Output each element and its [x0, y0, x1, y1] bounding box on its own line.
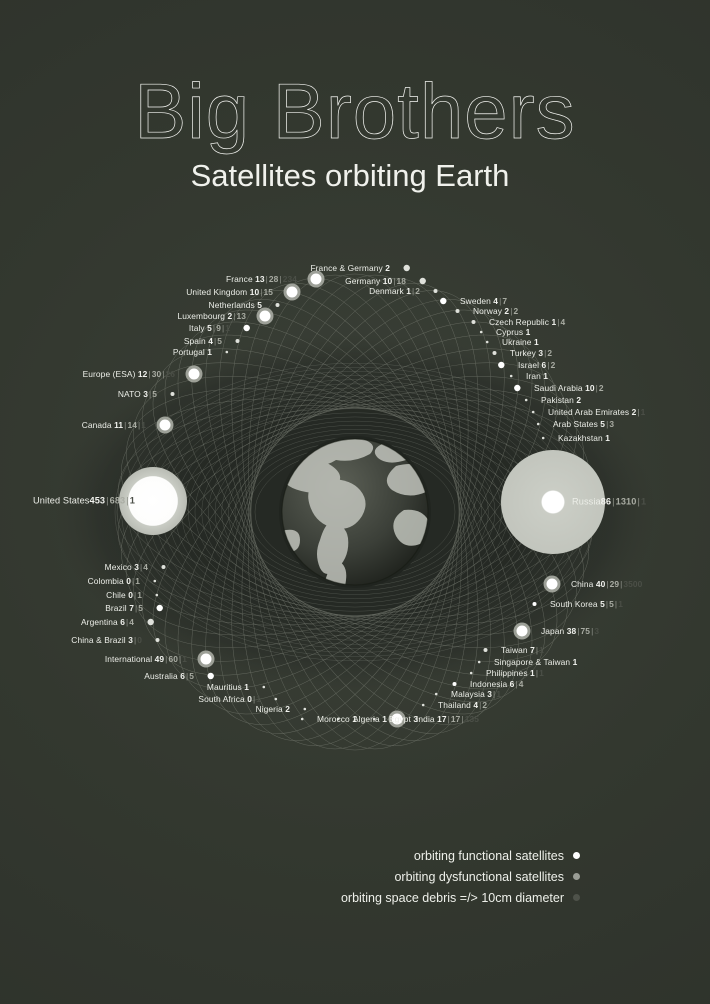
country-marker: [493, 351, 497, 355]
country-label-united-kingdom: United Kingdom 10|15: [186, 287, 273, 297]
country-marker: [547, 579, 558, 590]
country-marker: [208, 673, 214, 679]
country-label-arab-states: Arab States 5|3: [553, 419, 614, 429]
country-marker: [311, 274, 322, 285]
country-marker: [157, 605, 163, 611]
legend-label: orbiting space debris =/> 10cm diameter: [341, 891, 564, 905]
country-label-europe-esa: Europe (ESA) 12|30|26: [83, 369, 175, 379]
legend-dot-debris-icon: [573, 894, 580, 901]
country-label-australia: Australia 6|5: [144, 671, 194, 681]
country-label-south-africa: South Africa 0|1: [198, 694, 261, 704]
country-label-kazakhstan: Kazakhstan 1: [558, 433, 610, 443]
country-label-spain: Spain 4|5: [184, 336, 222, 346]
country-marker: [420, 278, 426, 284]
country-label-denmark: Denmark 1|2: [369, 286, 420, 296]
country-label-mauritius: Mauritius 1: [207, 682, 249, 692]
country-label-france-germany: France & Germany 2: [310, 263, 390, 273]
country-label-singapore-taiwan: Singapore & Taiwan 1: [494, 657, 577, 667]
country-marker: [148, 619, 154, 625]
country-label-international: International 49|60|1: [105, 654, 187, 664]
legend-dot-dysfunctional-icon: [573, 873, 580, 880]
country-marker: [510, 375, 513, 378]
country-marker: [304, 708, 307, 711]
country-label-egypt: Egypt 3: [389, 714, 418, 724]
country-marker: [171, 392, 175, 396]
country-label-saudi-arabia: Saudi Arabia 10|2: [534, 383, 604, 393]
country-label-malaysia: Malaysia 3|1: [451, 689, 501, 699]
country-label-united-arab-emirates: United Arab Emirates 2|1: [548, 407, 645, 417]
country-marker: [478, 661, 481, 664]
country-marker: [456, 309, 460, 313]
country-label-russia: Russia86|1310|1: [572, 497, 646, 508]
country-marker: [404, 265, 410, 271]
country-label-italy: Italy 5|9|1: [189, 323, 230, 333]
country-label-nigeria: Nigeria 2: [256, 704, 290, 714]
country-marker: [480, 331, 483, 334]
page-subtitle: Satellites orbiting Earth: [0, 156, 710, 196]
country-label-china: China 40|29|3500: [571, 579, 642, 589]
country-label-taiwan: Taiwan 7|1: [501, 645, 544, 655]
country-label-israel: Israel 6|2: [518, 360, 555, 370]
country-marker: [301, 718, 304, 721]
country-marker: [498, 362, 504, 368]
country-label-sweden: Sweden 4|7: [460, 296, 507, 306]
country-label-ukraine: Ukraine 1: [502, 337, 539, 347]
country-label-luxembourg: Luxembourg 2|13: [177, 311, 246, 321]
country-label-netherlands: Netherlands 5: [209, 300, 262, 310]
country-marker: [275, 698, 278, 701]
country-marker: [435, 693, 438, 696]
country-label-pakistan: Pakistan 2: [541, 395, 581, 405]
country-marker: [263, 686, 266, 689]
country-marker: [244, 325, 250, 331]
country-label-philippines: Philippines 1|1: [486, 668, 544, 678]
orbit-diagram: France 13|28|234France & Germany 2German…: [0, 230, 710, 760]
country-marker: [514, 385, 520, 391]
country-marker: [486, 341, 489, 344]
country-label-portugal: Portugal 1: [173, 347, 212, 357]
country-label-thailand: Thailand 4|2: [438, 700, 487, 710]
country-marker: [533, 602, 537, 606]
page-title: Big Brothers: [0, 72, 710, 150]
country-marker: [260, 311, 271, 322]
country-marker: [525, 399, 528, 402]
country-label-norway: Norway 2|2: [473, 306, 518, 316]
legend-item: orbiting functional satellites: [0, 845, 710, 866]
legend-label: orbiting functional satellites: [414, 849, 564, 863]
country-label-japan: Japan 38|75|3: [541, 626, 599, 636]
country-marker: [484, 648, 488, 652]
legend-label: orbiting dysfunctional satellites: [394, 870, 564, 884]
country-label-colombia: Colombia 0|1: [88, 576, 140, 586]
country-marker: [276, 303, 280, 307]
country-marker: [532, 411, 535, 414]
country-label-iran: Iran 1: [526, 371, 548, 381]
country-label-indonesia: Indonesia 6|4: [470, 679, 523, 689]
country-label-mexico: Mexico 3|4: [105, 562, 148, 572]
country-marker: [162, 565, 166, 569]
country-label-cyprus: Cyprus 1: [496, 327, 530, 337]
country-marker: [422, 704, 425, 707]
country-label-argentina: Argentina 6|4: [81, 617, 134, 627]
country-marker: [236, 339, 240, 343]
country-label-morocco: Morocco 1: [317, 714, 357, 724]
country-marker: [189, 369, 200, 380]
legend: orbiting functional satellites orbiting …: [0, 845, 710, 908]
legend-item: orbiting space debris =/> 10cm diameter: [0, 887, 710, 908]
country-marker: [156, 638, 160, 642]
country-marker: [156, 594, 159, 597]
legend-item: orbiting dysfunctional satellites: [0, 866, 710, 887]
country-marker: [470, 672, 473, 675]
country-marker: [472, 320, 476, 324]
country-marker: [226, 351, 229, 354]
country-label-brazil: Brazil 7|5: [105, 603, 143, 613]
country-marker: [542, 437, 545, 440]
country-label-china-brazil: China & Brazil 3|0: [71, 635, 142, 645]
country-marker: [154, 580, 157, 583]
country-marker: [453, 682, 457, 686]
country-marker: [434, 289, 438, 293]
country-label-france: France 13|28|234: [226, 274, 297, 284]
country-marker: [440, 298, 446, 304]
country-label-canada: Canada 11|14|1: [82, 420, 146, 430]
legend-dot-functional-icon: [573, 852, 580, 859]
title-block: Big Brothers Satellites orbiting Earth: [0, 72, 710, 196]
country-marker: [201, 654, 212, 665]
country-label-turkey: Turkey 3|2: [510, 348, 552, 358]
country-marker: [517, 626, 528, 637]
country-label-germany: Germany 10|18: [345, 276, 406, 286]
country-label-chile: Chile 0|1: [106, 590, 142, 600]
country-marker: [537, 423, 540, 426]
country-label-united-states: United States453|683|1: [33, 496, 135, 507]
country-label-czech-republic: Czech Republic 1|4: [489, 317, 565, 327]
country-marker: [160, 420, 171, 431]
country-label-algeria: Algeria 1: [353, 714, 387, 724]
country-label-india: India 17|17|135: [416, 714, 479, 724]
country-label-nato: NATO 3|5: [118, 389, 157, 399]
country-marker: [287, 287, 298, 298]
country-label-south-korea: South Korea 5|5|1: [550, 599, 623, 609]
